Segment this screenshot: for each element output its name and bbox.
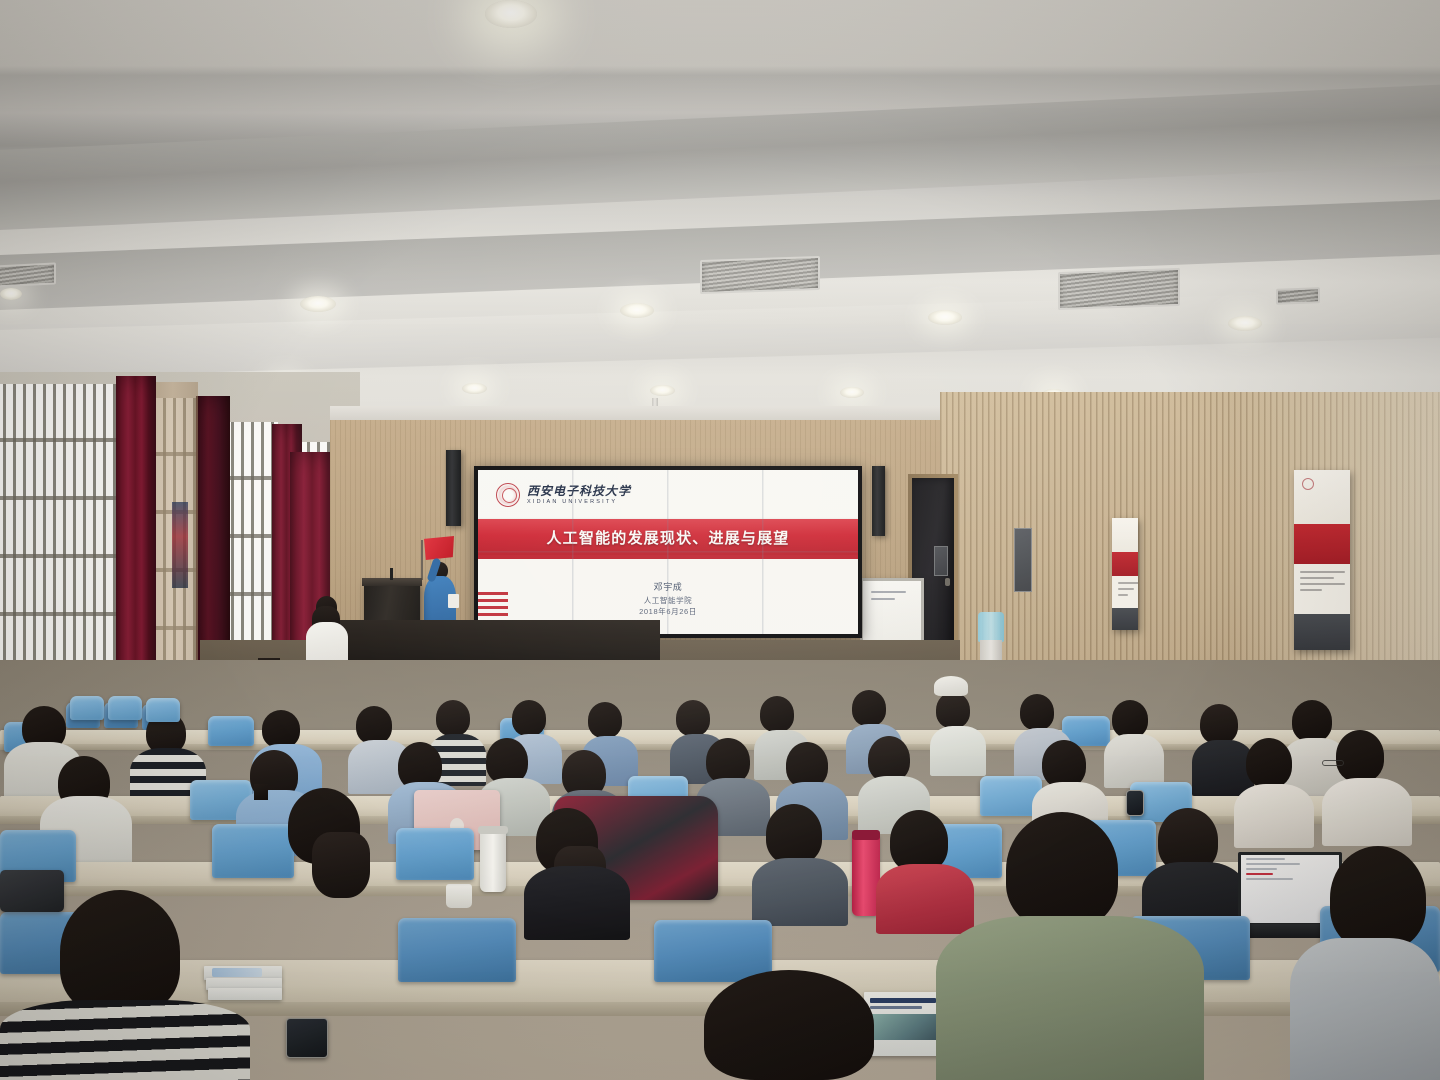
- door-handle[interactable]: [945, 578, 950, 586]
- poster-footer: [1112, 608, 1138, 630]
- book-cover-image: [870, 1014, 942, 1040]
- wall-control-panel[interactable]: [1014, 528, 1032, 592]
- person-body: [1322, 778, 1412, 846]
- dark-bag: [0, 870, 64, 912]
- person-head: [436, 700, 470, 736]
- window-pane: [0, 384, 120, 704]
- flag-pole: [421, 540, 423, 580]
- eyeglasses-icon: [1322, 760, 1344, 766]
- poster-logo-icon: [1302, 478, 1314, 490]
- presentation-screen-bezel: 西安电子科技大学 XIDIAN UNIVERSITY 人工智能的发展现状、进展与…: [474, 466, 862, 638]
- wall-speaker: [446, 450, 461, 526]
- ceiling-downlight: [300, 296, 336, 312]
- ceiling-downlight: [840, 387, 864, 398]
- person-head: [1246, 738, 1292, 788]
- phone-in-hand[interactable]: [1126, 790, 1144, 816]
- person-body: [524, 866, 630, 940]
- ceiling-downlight: [928, 310, 962, 325]
- tumbler-lid-icon: [478, 826, 508, 834]
- ceiling-downlight: [1228, 316, 1262, 331]
- poster-body: [1294, 564, 1350, 614]
- stacked-books: [208, 988, 282, 1000]
- wall-control-panel[interactable]: [934, 546, 948, 576]
- seat[interactable]: [396, 828, 474, 880]
- university-name-en: XIDIAN UNIVERSITY: [527, 499, 631, 505]
- person-cap-white: [934, 676, 968, 696]
- red-flag: [424, 536, 454, 560]
- seat-empty[interactable]: [146, 698, 180, 722]
- person-head: [254, 784, 268, 800]
- person-head: [588, 702, 622, 738]
- ceiling-air-vent: [0, 262, 56, 287]
- seat[interactable]: [654, 920, 772, 982]
- person-head: [512, 700, 546, 736]
- wall-poster-right: [1294, 470, 1350, 650]
- seat[interactable]: [212, 824, 294, 878]
- slide-header: 西安电子科技大学 XIDIAN UNIVERSITY: [478, 470, 858, 519]
- slide-decor-stripes: [478, 592, 508, 620]
- slide-presenter: 邓宇成: [654, 581, 683, 595]
- ceiling-downlight: [0, 288, 22, 300]
- poster-title-band: [1112, 552, 1138, 577]
- front-table: [330, 620, 660, 664]
- person-head: [1200, 704, 1238, 744]
- person-body: [752, 858, 848, 926]
- person-body: [0, 1000, 250, 1080]
- poster-header: [1294, 470, 1350, 524]
- wall-speaker: [872, 466, 885, 536]
- person-head: [1042, 740, 1086, 788]
- ceiling-downlight: [650, 385, 675, 396]
- poster-footer: [1294, 614, 1350, 650]
- ceiling-downlight: [485, 0, 537, 28]
- slide-date: 2018年6月26日: [639, 606, 697, 618]
- person-head: [1336, 730, 1384, 782]
- university-name-cn: 西安电子科技大学: [527, 485, 631, 497]
- person-body: [1192, 740, 1254, 796]
- person-head: [890, 810, 948, 872]
- university-name-block: 西安电子科技大学 XIDIAN UNIVERSITY: [527, 485, 631, 505]
- university-logo-icon: [496, 483, 520, 507]
- person-head: [1020, 694, 1054, 730]
- white-cup: [446, 884, 472, 908]
- book-cover-art: [212, 968, 262, 977]
- water-cooler-jug: [978, 612, 1004, 642]
- person-body: [876, 864, 974, 934]
- lecture-hall-photo: 西安电子科技大学 XIDIAN UNIVERSITY 人工智能的发展现状、进展与…: [0, 0, 1440, 1080]
- person-head: [760, 696, 794, 732]
- slide-title: 人工智能的发展现状、进展与展望: [546, 527, 789, 548]
- person-body: [1290, 938, 1440, 1080]
- person-head: [60, 890, 180, 1014]
- person-head: [356, 706, 392, 744]
- ceiling-downlight: [462, 383, 487, 394]
- seat[interactable]: [208, 716, 254, 746]
- person-head: [262, 710, 300, 748]
- seat-empty[interactable]: [108, 696, 142, 720]
- outdoor-poster: [172, 502, 188, 588]
- book-title-bar: [870, 998, 936, 1003]
- seat[interactable]: [398, 918, 516, 982]
- seat-empty[interactable]: [70, 696, 104, 720]
- ceiling-air-vent: [1276, 287, 1320, 305]
- person-head: [704, 970, 874, 1080]
- poster-header: [1112, 518, 1138, 552]
- ceiling-air-vent: [1058, 268, 1180, 310]
- person-head: [1330, 846, 1426, 950]
- person-head: [1006, 812, 1118, 928]
- ceiling-downlight: [620, 303, 654, 318]
- poster-title-band: [1294, 524, 1350, 564]
- book-subtitle-bar: [870, 1006, 922, 1009]
- white-tumbler: [480, 830, 506, 892]
- person-head: [1292, 700, 1332, 742]
- person-head: [676, 700, 710, 736]
- person-head: [1112, 700, 1148, 738]
- poster-body: [1112, 576, 1138, 607]
- person-body: [1234, 784, 1314, 848]
- lectern-mic: [390, 568, 393, 580]
- bottle-cap-icon: [852, 830, 880, 840]
- person-head: [936, 692, 970, 728]
- smartphone-on-desk[interactable]: [286, 1018, 328, 1058]
- person-head: [852, 690, 886, 726]
- presentation-screen: 西安电子科技大学 XIDIAN UNIVERSITY 人工智能的发展现状、进展与…: [478, 470, 858, 634]
- person-head: [766, 804, 822, 864]
- slide-title-band: 人工智能的发展现状、进展与展望: [478, 519, 858, 555]
- person-body: [936, 916, 1204, 1080]
- person-badge: [448, 594, 459, 608]
- slide-affiliation: 人工智能学院: [644, 595, 693, 607]
- person-head: [312, 832, 370, 898]
- person-body: [930, 726, 986, 776]
- wall-poster-left: [1112, 518, 1138, 630]
- person-body: [1104, 734, 1164, 788]
- ceiling-air-vent: [700, 256, 820, 294]
